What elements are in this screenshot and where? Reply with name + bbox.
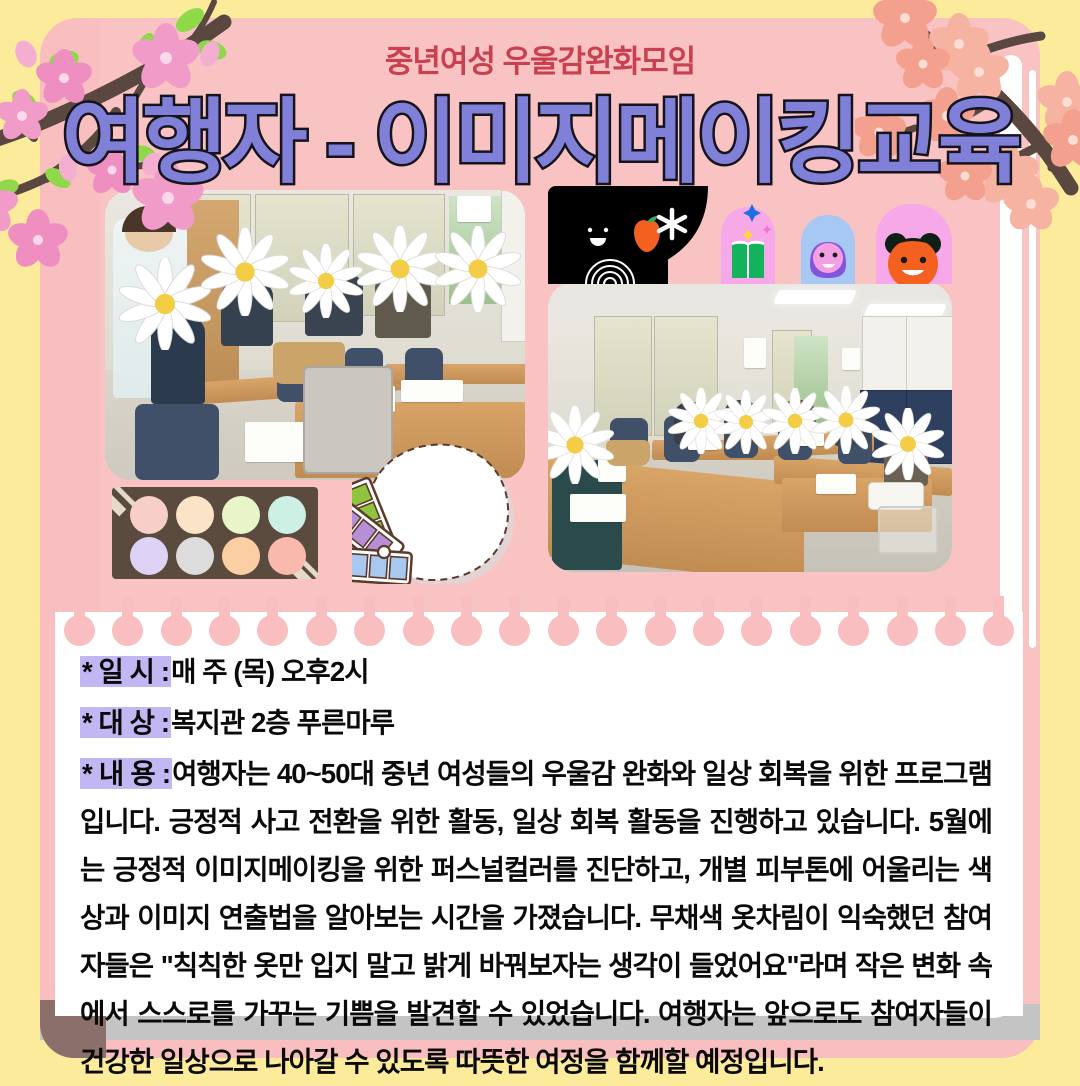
pin [606, 596, 617, 618]
palette-swatch [268, 537, 306, 575]
daisy-face-cover [548, 406, 614, 489]
info-value-content: 여행자는 40~50대 중년 여성들의 우울감 완화와 일상 회복을 위한 프로… [80, 758, 992, 1077]
pin [848, 596, 859, 618]
info-label-target: * 대 상 : [80, 707, 171, 738]
poster-root: 중년여성 우울감완화모임 여행자 - 이미지메이킹교육 * 일 시 :매 주 (… [0, 0, 1080, 1080]
palette-swatch [222, 496, 260, 534]
pin [703, 596, 714, 618]
info-label-datetime: * 일 시 : [80, 656, 171, 687]
pin [364, 596, 375, 618]
pin [800, 596, 811, 618]
palette-swatch [176, 537, 214, 575]
poster-title: 여행자 - 이미지메이킹교육 [0, 68, 1080, 201]
pin [897, 596, 908, 618]
pin [509, 596, 520, 618]
girl-face-icon [810, 242, 846, 278]
daisy-face-cover [289, 244, 363, 323]
palette-swatch [130, 537, 168, 575]
pin [316, 596, 327, 618]
daisy-face-cover [201, 228, 289, 321]
daisy-face-cover [357, 226, 443, 317]
palette-swatch [268, 496, 306, 534]
orange-bear-character [885, 233, 941, 284]
color-swatch-fan-sticker [352, 438, 518, 584]
photo-classroom-styling [105, 190, 525, 480]
info-value-target: 복지관 2층 푸른마루 [171, 707, 394, 738]
pin [267, 596, 278, 618]
palette-swatch [222, 537, 260, 575]
daisy-face-cover [435, 226, 521, 317]
pin [171, 596, 182, 618]
info-label-content: * 내 용 : [80, 758, 172, 789]
open-book-icon [732, 242, 764, 278]
book-arch [721, 204, 775, 284]
pin [558, 596, 569, 618]
pin [219, 596, 230, 618]
info-row-content: * 내 용 :여행자는 40~50대 중년 여성들의 우울감 완화와 일상 회복… [80, 750, 992, 1086]
pin [993, 596, 1004, 618]
info-value-datetime: 매 주 (목) 오후2시 [171, 656, 369, 687]
pin [461, 596, 472, 618]
makeup-palette-sticker [112, 487, 318, 579]
pin [413, 596, 424, 618]
info-row-target: * 대 상 :복지관 2층 푸른마루 [80, 699, 992, 747]
info-block: * 일 시 :매 주 (목) 오후2시 * 대 상 :복지관 2층 푸른마루 *… [80, 648, 992, 1086]
pin-decoration-row [55, 596, 1023, 642]
pin [74, 596, 85, 618]
daisy-face-cover [872, 408, 944, 485]
pin [122, 596, 133, 618]
pin [945, 596, 956, 618]
pin [655, 596, 666, 618]
palette-swatch [176, 496, 214, 534]
info-row-datetime: * 일 시 :매 주 (목) 오후2시 [80, 648, 992, 696]
daisy-face-cover [812, 386, 880, 459]
photo-classroom-group [548, 282, 952, 572]
pin [751, 596, 762, 618]
palette-swatch [130, 496, 168, 534]
girl-face-arch [801, 215, 855, 284]
daisy-face-cover [119, 258, 211, 355]
